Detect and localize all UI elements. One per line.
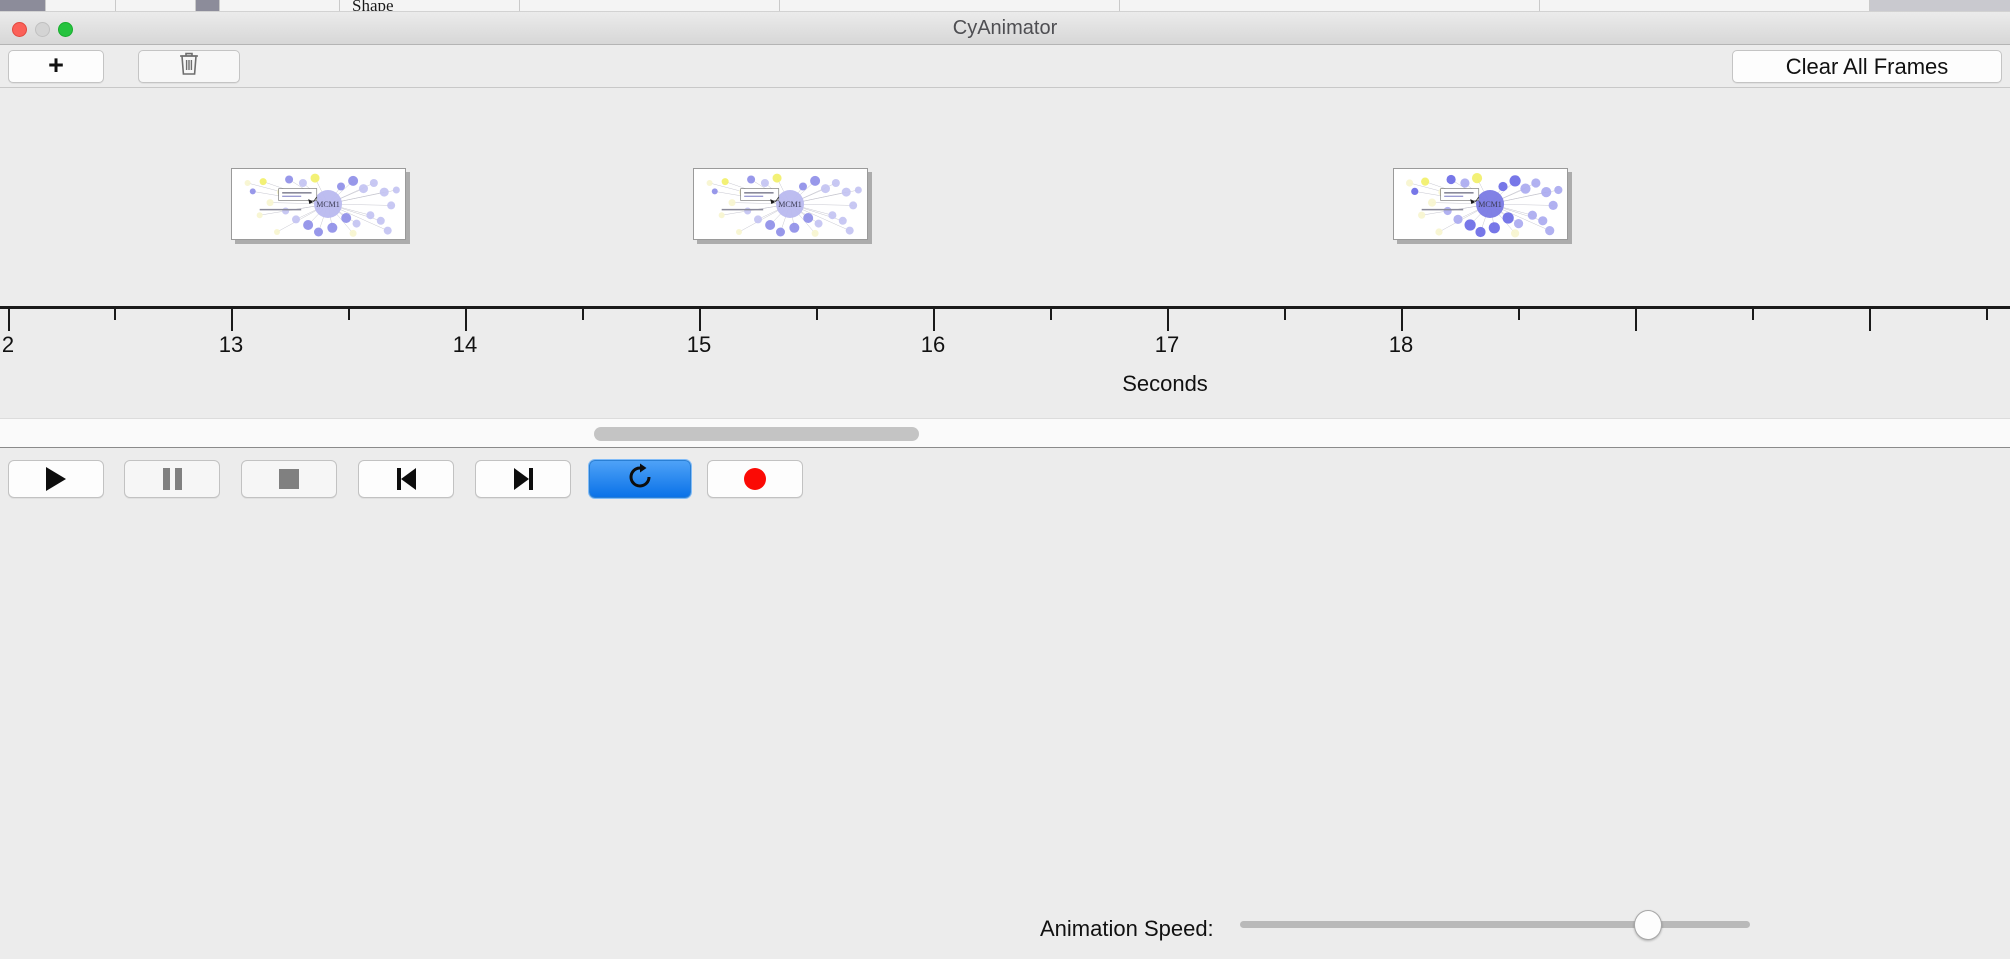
record-icon: [744, 468, 766, 490]
timeline-scrollbar[interactable]: [0, 418, 2010, 448]
axis-tick-label: 14: [453, 332, 477, 358]
axis-tick-minor: [114, 309, 116, 320]
loop-button[interactable]: [589, 460, 691, 498]
axis-tick-minor: [1518, 309, 1520, 320]
svg-text:MCM1: MCM1: [778, 200, 802, 209]
axis-tick-major: [1635, 309, 1637, 331]
title-bar: CyAnimator: [0, 12, 2010, 45]
skip-to-end-button[interactable]: [475, 460, 571, 498]
plus-icon: +: [48, 52, 64, 79]
skip-forward-icon: [514, 468, 533, 490]
axis-tick-minor: [816, 309, 818, 320]
timeline-panel[interactable]: MCM1 MCM1 MCM1: [0, 88, 2010, 330]
axis-tick-label: 17: [1155, 332, 1179, 358]
axis-tick-major: [933, 309, 935, 331]
bg-chip: [116, 0, 196, 12]
axis-tick-minor: [582, 309, 584, 320]
record-button[interactable]: [707, 460, 803, 498]
play-button[interactable]: [8, 460, 104, 498]
axis-tick-minor: [1284, 309, 1286, 320]
bg-chip: [46, 0, 116, 12]
animation-speed-label: Animation Speed:: [1040, 898, 1214, 959]
timeline-frame[interactable]: MCM1: [693, 168, 868, 240]
add-frame-button[interactable]: +: [8, 50, 104, 83]
axis-tick-label: 15: [687, 332, 711, 358]
bg-chip: [196, 0, 220, 12]
trash-icon: [178, 51, 200, 82]
bg-strip-label: Shape: [352, 0, 394, 12]
axis-tick-label: 13: [219, 332, 243, 358]
bg-chip: [1120, 0, 1540, 12]
axis-tick-label: 2: [2, 332, 14, 358]
animation-speed-slider-track[interactable]: [1240, 921, 1750, 928]
bg-chip: [0, 0, 46, 12]
svg-text:MCM1: MCM1: [1478, 200, 1502, 209]
stop-button[interactable]: [241, 460, 337, 498]
skip-back-icon: [397, 468, 416, 490]
axis-tick-label: 18: [1389, 332, 1413, 358]
clear-all-frames-label: Clear All Frames: [1786, 54, 1949, 80]
axis-tick-major: [465, 309, 467, 331]
loop-icon: [626, 463, 654, 496]
axis-tick-major: [8, 309, 10, 331]
axis-line: [0, 306, 2010, 309]
timeline-axis: Seconds 2131415161718: [0, 306, 2010, 406]
bg-chip: [1540, 0, 1870, 12]
axis-tick-minor: [1986, 309, 1988, 320]
axis-tick-major: [231, 309, 233, 331]
bg-chip: [1870, 0, 2010, 12]
timeline-frame[interactable]: MCM1: [1393, 168, 1568, 240]
timeline-frame[interactable]: MCM1: [231, 168, 406, 240]
scrollbar-thumb[interactable]: [594, 427, 919, 441]
stop-icon: [279, 469, 299, 489]
axis-tick-major: [1167, 309, 1169, 331]
playback-bar: Animation Speed:: [0, 449, 2010, 510]
axis-tick-major: [699, 309, 701, 331]
axis-tick-major: [1869, 309, 1871, 331]
axis-title: Seconds: [1122, 371, 1208, 397]
axis-tick-label: 16: [921, 332, 945, 358]
background-app-strip: Shape: [0, 0, 2010, 12]
window-title: CyAnimator: [0, 12, 2010, 45]
axis-tick-minor: [1050, 309, 1052, 320]
axis-tick-minor: [348, 309, 350, 320]
bg-chip: [520, 0, 780, 12]
delete-frame-button[interactable]: [138, 50, 240, 83]
bg-chip: [220, 0, 340, 12]
axis-tick-major: [1401, 309, 1403, 331]
bg-chip: [780, 0, 1120, 12]
animation-speed-slider-thumb[interactable]: [1634, 910, 1662, 940]
axis-tick-minor: [1752, 309, 1754, 320]
toolbar: + Clear All Frames: [0, 45, 2010, 88]
play-icon: [46, 467, 66, 491]
skip-to-start-button[interactable]: [358, 460, 454, 498]
pause-icon: [163, 468, 182, 490]
clear-all-frames-button[interactable]: Clear All Frames: [1732, 50, 2002, 83]
pause-button[interactable]: [124, 460, 220, 498]
svg-text:MCM1: MCM1: [316, 200, 340, 209]
